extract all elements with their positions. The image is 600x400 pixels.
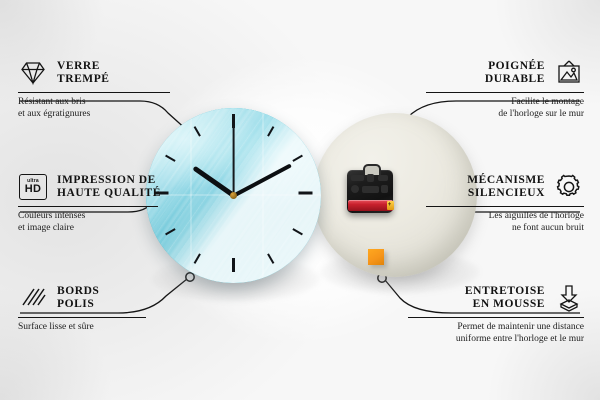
feature-description: Résistant aux bris et aux égratignures [18, 97, 198, 120]
hd-main-label: HD [25, 184, 42, 195]
product-infographic: + [0, 0, 600, 400]
feature-divider [18, 317, 146, 318]
diamond-icon [18, 58, 48, 88]
feature-description: Les aiguilles de l'horloge ne font aucun… [404, 211, 584, 234]
gear-icon [554, 172, 584, 202]
battery-plus-label: + [387, 203, 392, 208]
feature-divider [426, 92, 584, 93]
feature-divider [408, 317, 584, 318]
feature-verre-trempe: VERRE TREMPÉ Résistant aux bris et aux é… [18, 58, 198, 120]
feature-mecanisme-silencieux: MÉCANISME SILENCIEUX Les aiguilles de l'… [404, 172, 584, 234]
battery: + [348, 200, 393, 211]
foam-spacer-arrow-icon [554, 283, 584, 313]
feature-entretoise-en-mousse: ENTRETOISE EN MOUSSE Permet de maintenir… [404, 283, 584, 345]
feature-title: MÉCANISME SILENCIEUX [467, 174, 545, 201]
feature-divider [426, 206, 584, 207]
tick-6 [232, 258, 235, 272]
feature-divider [18, 206, 158, 207]
hand-center-cap [230, 192, 237, 199]
ultra-hd-badge-icon: ultra HD [18, 172, 48, 202]
second-hand [233, 126, 235, 196]
feature-title: POIGNÉE DURABLE [485, 60, 545, 87]
feature-description: Permet de maintenir une distance uniform… [404, 322, 584, 345]
foam-spacer [368, 249, 384, 265]
feature-impression-haute-qualite: ultra HD IMPRESSION DE HAUTE QUALITÉ Cou… [18, 172, 198, 234]
feature-bords-polis: BORDS POLIS Surface lisse et sûre [18, 283, 198, 334]
picture-hanger-icon [554, 58, 584, 88]
tick-3 [299, 192, 313, 195]
polished-edges-icon [18, 283, 48, 313]
feature-description: Couleurs intenses et image claire [18, 211, 198, 234]
feature-title: IMPRESSION DE HAUTE QUALITÉ [57, 174, 161, 201]
feature-divider [18, 92, 170, 93]
feature-title: VERRE TREMPÉ [57, 60, 110, 87]
feature-description: Surface lisse et sûre [18, 322, 198, 333]
feature-poignee-durable: POIGNÉE DURABLE Facilite le montage de l… [404, 58, 584, 120]
feature-title: BORDS POLIS [57, 285, 99, 312]
feature-description: Facilite le montage de l'horloge sur le … [404, 97, 584, 120]
feature-title: ENTRETOISE EN MOUSSE [465, 285, 545, 312]
